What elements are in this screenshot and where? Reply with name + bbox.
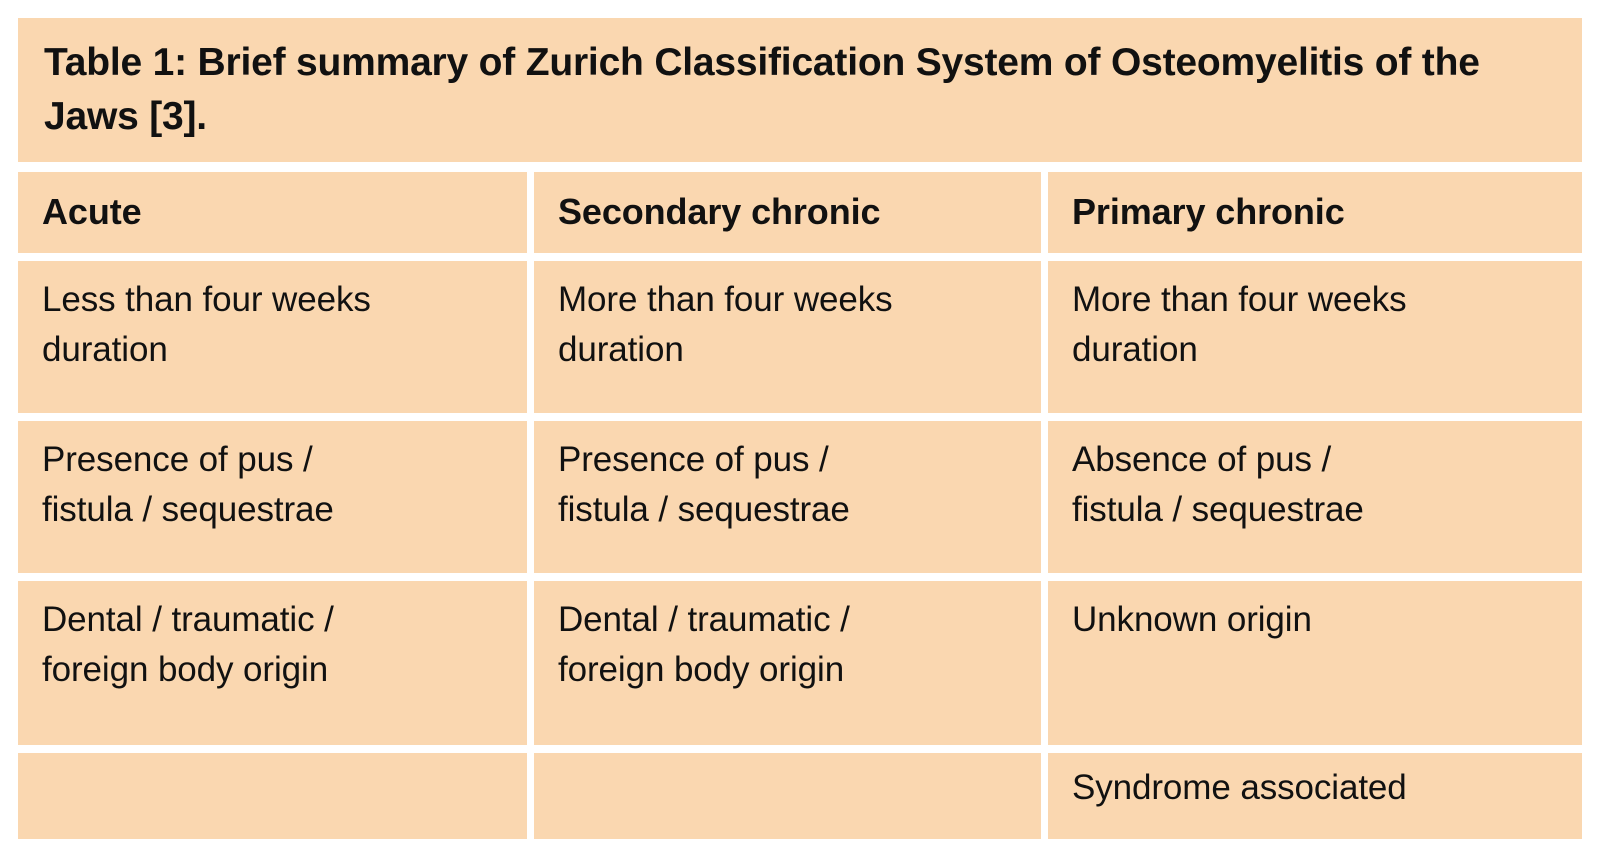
table-cell-text: Presence of pus / fistula / sequestrae bbox=[42, 435, 503, 534]
table-cell-r2c2: Presence of pus / fistula / sequestrae bbox=[534, 421, 1041, 573]
column-header-primary-chronic: Primary chronic bbox=[1048, 172, 1582, 253]
table-caption-cell: Table 1: Brief summary of Zurich Classif… bbox=[18, 18, 1582, 162]
table-cell-text: Unknown origin bbox=[1072, 595, 1558, 645]
table-cell-r1c2: More than four weeks duration bbox=[534, 261, 1041, 413]
column-header-acute-label: Acute bbox=[42, 186, 503, 237]
table-cell-text: Less than four weeks duration bbox=[42, 275, 503, 374]
table-cell-text: More than four weeks duration bbox=[558, 275, 1017, 374]
table-cell-r1c3: More than four weeks duration bbox=[1048, 261, 1582, 413]
table-cell-r3c3: Unknown origin bbox=[1048, 581, 1582, 745]
table-cell-r1c1: Less than four weeks duration bbox=[18, 261, 527, 413]
column-header-acute: Acute bbox=[18, 172, 527, 253]
table-cell-text: Presence of pus / fistula / sequestrae bbox=[558, 435, 1017, 534]
column-header-secondary-chronic-label: Secondary chronic bbox=[558, 186, 1017, 237]
table-cell-r4c1 bbox=[18, 753, 527, 839]
table-cell-r3c2: Dental / traumatic / foreign body origin bbox=[534, 581, 1041, 745]
table-cell-text: Syndrome associated bbox=[1072, 763, 1558, 813]
table-cell-text: More than four weeks duration bbox=[1072, 275, 1558, 374]
table-cell-r2c3: Absence of pus / fistula / sequestrae bbox=[1048, 421, 1582, 573]
column-header-primary-chronic-label: Primary chronic bbox=[1072, 186, 1558, 237]
table-cell-text: Dental / traumatic / foreign body origin bbox=[558, 595, 1017, 694]
table-cell-r3c1: Dental / traumatic / foreign body origin bbox=[18, 581, 527, 745]
table-caption-text: Table 1: Brief summary of Zurich Classif… bbox=[44, 36, 1556, 144]
table-cell-text: Absence of pus / fistula / sequestrae bbox=[1072, 435, 1558, 534]
table-cell-r2c1: Presence of pus / fistula / sequestrae bbox=[18, 421, 527, 573]
table-figure: Table 1: Brief summary of Zurich Classif… bbox=[0, 0, 1600, 863]
table-cell-r4c3: Syndrome associated bbox=[1048, 753, 1582, 839]
table-cell-r4c2 bbox=[534, 753, 1041, 839]
table-cell-text: Dental / traumatic / foreign body origin bbox=[42, 595, 503, 694]
column-header-secondary-chronic: Secondary chronic bbox=[534, 172, 1041, 253]
